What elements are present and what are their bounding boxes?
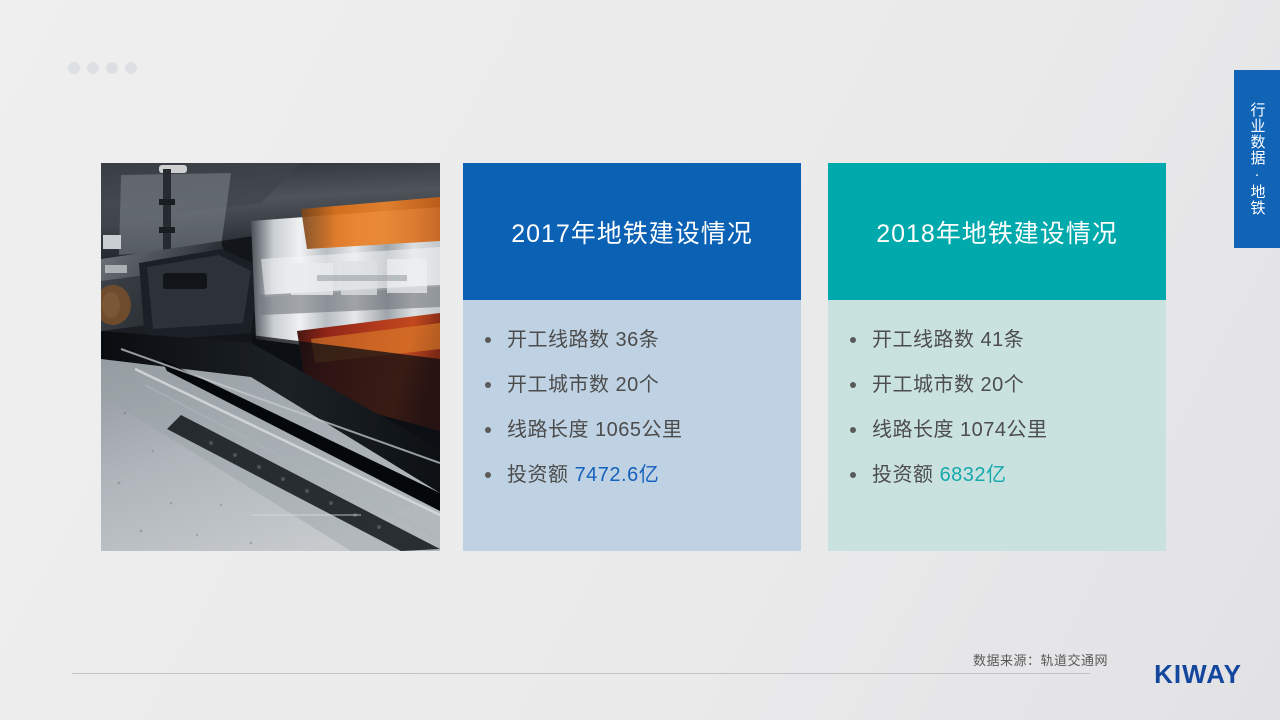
list-item: 投资额 7472.6亿 — [481, 461, 801, 489]
card-2017-title: 2017年地铁建设情况 — [463, 163, 801, 300]
decor-dot-icon — [87, 62, 99, 74]
bullet-dot-icon — [850, 337, 856, 343]
bullet-dot-icon — [850, 382, 856, 388]
list-item-label: 线路长度 1074公里 — [872, 416, 1048, 444]
subway-photo — [101, 163, 440, 551]
investment-value: 6832亿 — [940, 464, 1007, 486]
card-2018-title: 2018年地铁建设情况 — [828, 163, 1166, 300]
slide-canvas: 行业数据·地铁 — [0, 0, 1280, 720]
list-item: 开工城市数 20个 — [846, 371, 1166, 399]
decor-dot-icon — [68, 62, 80, 74]
list-item: 线路长度 1074公里 — [846, 416, 1166, 444]
list-item-label: 开工城市数 20个 — [507, 371, 659, 399]
bullet-dot-icon — [850, 427, 856, 433]
decorative-dots — [68, 62, 137, 74]
list-item-label: 开工线路数 41条 — [872, 326, 1024, 354]
bullet-dot-icon — [485, 337, 491, 343]
bullet-dot-icon — [850, 472, 856, 478]
card-2017-bullet-list: 开工线路数 36条 开工城市数 20个 线路长度 1065公里 投资额 7472… — [463, 300, 801, 551]
card-2018: 2018年地铁建设情况 开工线路数 41条 开工城市数 20个 线路长度 107… — [828, 163, 1166, 551]
list-item-label: 投资额 7472.6亿 — [507, 461, 659, 489]
list-item: 线路长度 1065公里 — [481, 416, 801, 444]
decor-dot-icon — [125, 62, 137, 74]
card-2018-bullet-list: 开工线路数 41条 开工城市数 20个 线路长度 1074公里 投资额 6832… — [828, 300, 1166, 551]
card-2017: 2017年地铁建设情况 开工线路数 36条 开工城市数 20个 线路长度 106… — [463, 163, 801, 551]
side-tab-section-label: 行业数据·地铁 — [1234, 70, 1280, 248]
footer-divider — [72, 673, 1090, 674]
list-item: 开工城市数 20个 — [481, 371, 801, 399]
bullet-dot-icon — [485, 472, 491, 478]
bullet-dot-icon — [485, 427, 491, 433]
investment-value: 7472.6亿 — [575, 464, 660, 486]
list-item: 开工线路数 41条 — [846, 326, 1166, 354]
list-item-label: 开工线路数 36条 — [507, 326, 659, 354]
list-item-label: 线路长度 1065公里 — [507, 416, 683, 444]
data-source-label: 数据来源：轨道交通网 — [973, 650, 1108, 669]
list-item: 开工线路数 36条 — [481, 326, 801, 354]
list-item-label: 投资额 6832亿 — [872, 461, 1007, 489]
subway-train-icon — [101, 163, 440, 551]
bullet-dot-icon — [485, 382, 491, 388]
decor-dot-icon — [106, 62, 118, 74]
kiway-logo: KIWAY — [1154, 659, 1242, 689]
list-item-label: 开工城市数 20个 — [872, 371, 1024, 399]
list-item: 投资额 6832亿 — [846, 461, 1166, 489]
